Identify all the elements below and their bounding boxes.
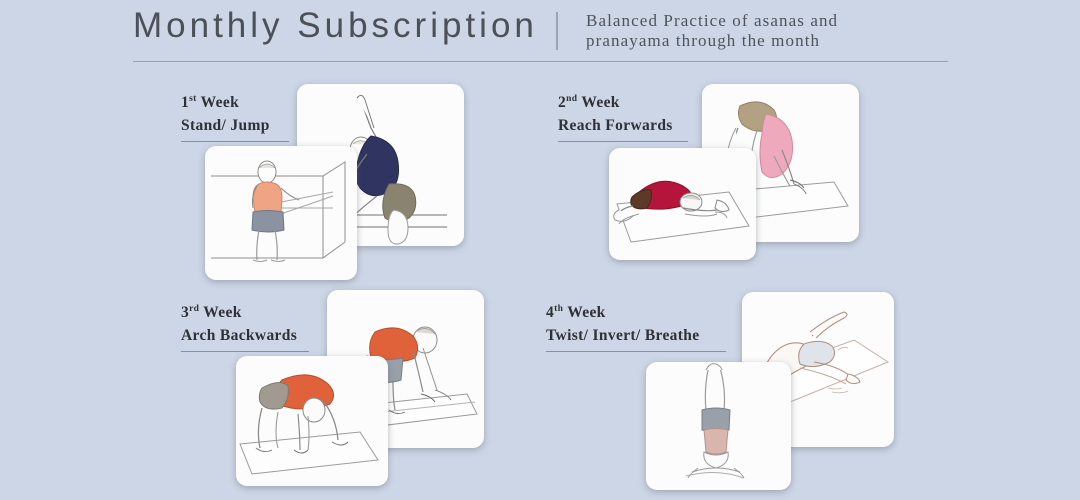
week-label-2: 2nd Week Reach Forwards <box>558 88 688 142</box>
week-2-word: Week <box>581 94 619 111</box>
week-2-ordinal: 2 <box>558 94 566 111</box>
week-4-word: Week <box>567 304 605 321</box>
pose-card-standing-wall[interactable] <box>205 146 357 280</box>
week-1-ordinal-line: 1st Week <box>181 88 289 114</box>
header: Monthly Subscription Balanced Practice o… <box>0 0 1080 72</box>
week-4-suffix: th <box>554 304 563 314</box>
pose-card-seated-forward-bend[interactable] <box>609 148 756 260</box>
subtitle-line-1: Balanced Practice of asanas and <box>586 11 956 31</box>
deep-forward-fold-illustration <box>236 356 388 486</box>
week-4-ordinal-line: 4th Week <box>546 298 726 324</box>
header-subtitle: Balanced Practice of asanas and pranayam… <box>586 11 956 51</box>
week-2-focus: Reach Forwards <box>558 114 688 137</box>
week-3-focus: Arch Backwards <box>181 324 309 347</box>
standing-wall-pose-illustration <box>205 146 357 280</box>
page-title: Monthly Subscription <box>133 6 538 46</box>
headstand-illustration <box>646 362 791 490</box>
week-label-3: 3rd Week Arch Backwards <box>181 298 309 352</box>
pose-card-headstand[interactable] <box>646 362 791 490</box>
week-label-1: 1st Week Stand/ Jump <box>181 88 289 142</box>
week-2-ordinal-line: 2nd Week <box>558 88 688 114</box>
poster-canvas: Monthly Subscription Balanced Practice o… <box>0 0 1080 500</box>
week-4-focus: Twist/ Invert/ Breathe <box>546 324 726 347</box>
week-4-ordinal: 4 <box>546 304 554 321</box>
pose-card-deep-fold-orange[interactable] <box>236 356 388 486</box>
week-3-word: Week <box>203 304 241 321</box>
week-1-word: Week <box>201 94 239 111</box>
week-3-suffix: rd <box>189 304 199 314</box>
header-horizontal-rule <box>133 61 948 62</box>
week-3-ordinal: 3 <box>181 304 189 321</box>
week-label-4: 4th Week Twist/ Invert/ Breathe <box>546 298 726 352</box>
header-vertical-divider <box>556 12 558 50</box>
week-1-suffix: st <box>189 94 197 104</box>
week-1-ordinal: 1 <box>181 94 189 111</box>
seated-forward-bend-illustration <box>609 148 756 260</box>
week-3-underline <box>181 351 309 352</box>
subtitle-line-2: pranayama through the month <box>586 31 956 51</box>
week-1-underline <box>181 141 289 142</box>
week-2-suffix: nd <box>566 94 577 104</box>
week-2-underline <box>558 141 688 142</box>
week-3-ordinal-line: 3rd Week <box>181 298 309 324</box>
week-4-underline <box>546 351 726 352</box>
week-1-focus: Stand/ Jump <box>181 114 289 137</box>
